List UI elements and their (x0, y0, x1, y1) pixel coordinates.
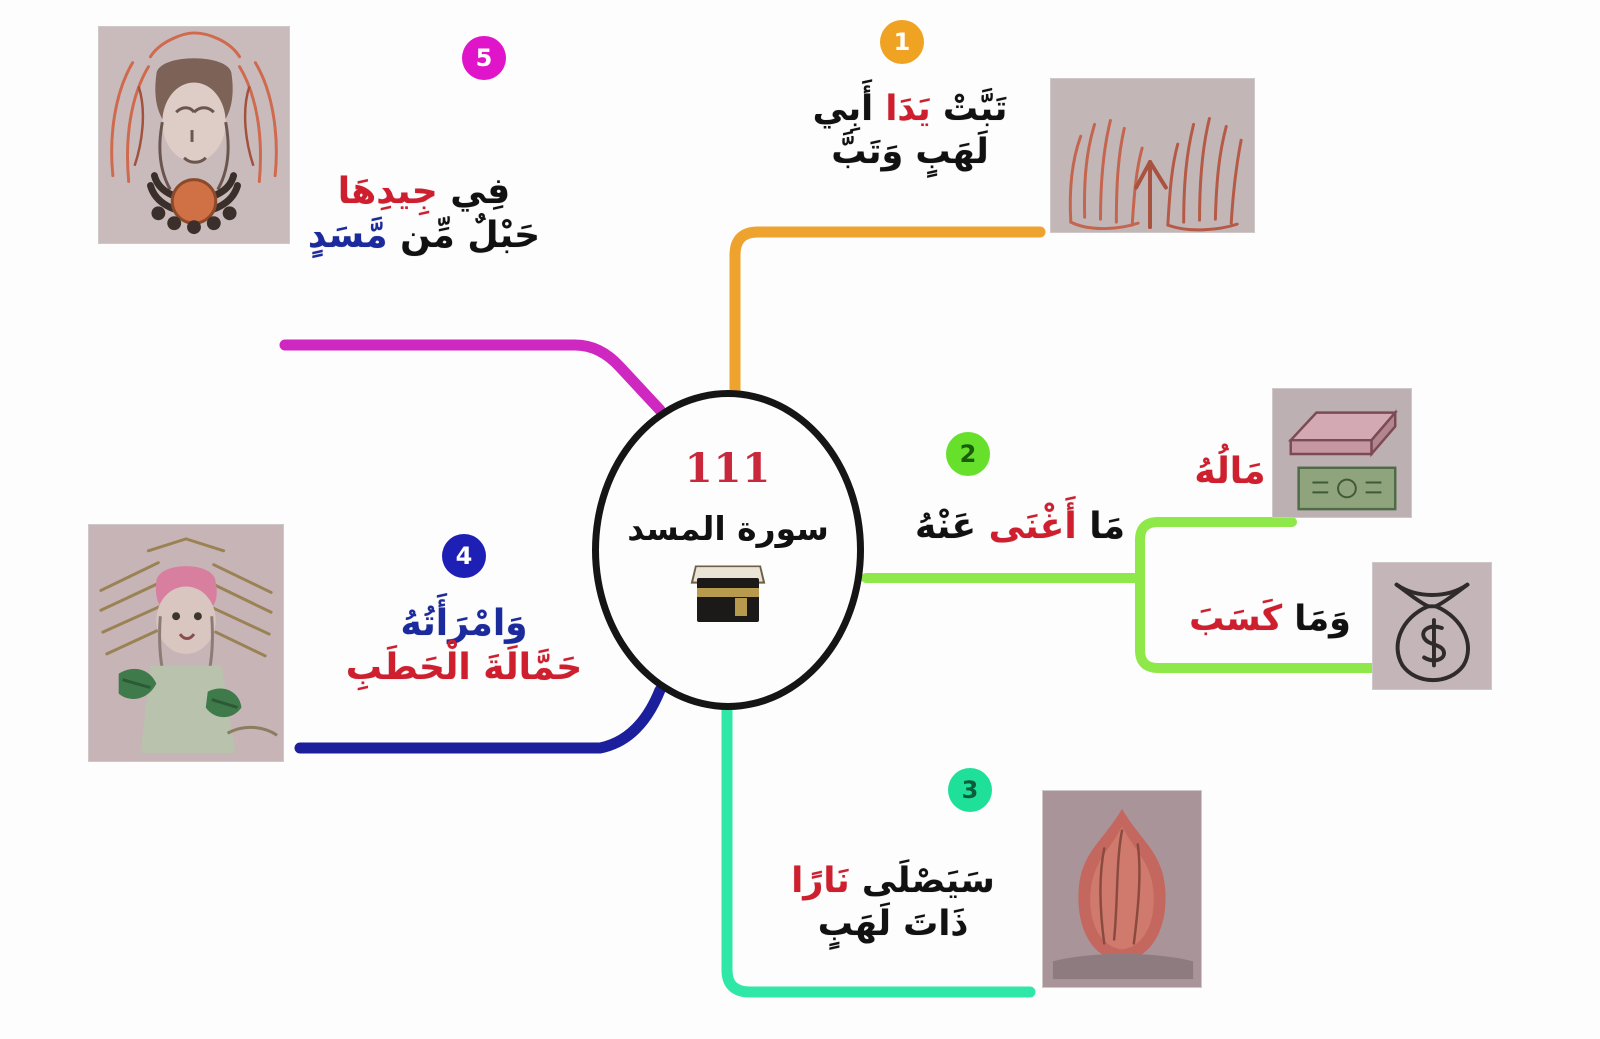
verse-line: وَامْرَأَتُهُ (312, 602, 616, 646)
chapter-number: 111 (685, 449, 772, 489)
connector-branch-3 (727, 700, 1030, 992)
center-node[interactable]: 111 سورة المسد (592, 390, 864, 710)
money-bag-drawing (1372, 562, 1492, 690)
connector-branch-5 (285, 345, 660, 410)
verse-word: يَدَا (885, 89, 930, 129)
verse-branch-4: وَامْرَأَتُهُحَمَّالَةَ الْحَطَبِ (312, 602, 616, 690)
hands-drawing (1050, 78, 1255, 233)
connector-branch-4 (300, 690, 660, 748)
verse-word: وَمَا (1282, 599, 1351, 639)
verse-word: وَامْرَأَتُهُ (400, 603, 527, 644)
verse-branch-2a: مَالُهُ (1170, 450, 1290, 494)
verse-word: تَبَّتْ (931, 89, 1008, 129)
verse-word: جِيدِهَا (338, 171, 438, 212)
verse-word: لَهَبٍ وَتَبَّ (831, 132, 988, 172)
verse-word: عَنْهُ (915, 506, 989, 547)
verse-line: تَبَّتْ يَدَا أَبِي (780, 88, 1040, 131)
verse-line: مَالُهُ (1170, 450, 1290, 494)
verse-branch-1: تَبَّتْ يَدَا أَبِيلَهَبٍ وَتَبَّ (780, 88, 1040, 173)
verse-word: أَغْنَى (989, 506, 1077, 547)
badge-branch-1[interactable]: 1 (880, 20, 924, 64)
badge-branch-3[interactable]: 3 (948, 768, 992, 812)
woman-with-rope-drawing (98, 26, 290, 244)
kaaba-icon (691, 558, 765, 624)
verse-word: نَارًا (791, 861, 849, 901)
verse-line: ذَاتَ لَهَبٍ (760, 903, 1026, 946)
verse-line: فِي جِيدِهَا (300, 170, 548, 214)
verse-line: مَا أَغْنَى عَنْهُ (900, 505, 1140, 549)
verse-word: أَبِي (813, 89, 886, 129)
verse-word: مَّسَدٍ (308, 215, 388, 256)
verse-line: وَمَا كَسَبَ (1168, 598, 1372, 641)
verse-branch-5: فِي جِيدِهَاحَبْلٌ مِّن مَّسَدٍ (300, 170, 548, 258)
connector-branch-1 (735, 232, 1040, 395)
verse-word: حَمَّالَةَ الْحَطَبِ (346, 647, 582, 688)
mindmap-canvas: 111 سورة المسد 1 تَبَّتْ يَدَا أَبِيلَهَ… (0, 0, 1600, 1039)
verse-word: فِي (438, 171, 511, 212)
fire-drawing (1042, 790, 1202, 988)
verse-line: حَبْلٌ مِّن مَّسَدٍ (300, 214, 548, 258)
verse-branch-2b: وَمَا كَسَبَ (1168, 598, 1372, 641)
verse-word: مَا (1077, 506, 1125, 547)
verse-word: كَسَبَ (1189, 599, 1282, 639)
verse-word: مَالُهُ (1194, 451, 1265, 492)
verse-line: حَمَّالَةَ الْحَطَبِ (312, 646, 616, 690)
surah-title: سورة المسد (627, 509, 829, 548)
verse-word: حَبْلٌ مِّن (388, 215, 541, 256)
badge-branch-4[interactable]: 4 (442, 534, 486, 578)
verse-word: سَيَصْلَى (850, 861, 995, 901)
verse-branch-3: سَيَصْلَى نَارًاذَاتَ لَهَبٍ (760, 860, 1026, 945)
money-notes-drawing (1272, 388, 1412, 518)
verse-word: ذَاتَ لَهَبٍ (818, 904, 969, 944)
woman-carrying-firewood-drawing (88, 524, 284, 762)
verse-line: لَهَبٍ وَتَبَّ (780, 131, 1040, 174)
badge-branch-2[interactable]: 2 (946, 432, 990, 476)
verse-branch-2: مَا أَغْنَى عَنْهُ (900, 505, 1140, 549)
badge-branch-5[interactable]: 5 (462, 36, 506, 80)
connector-branch-2a (1140, 522, 1292, 578)
verse-line: سَيَصْلَى نَارًا (760, 860, 1026, 903)
